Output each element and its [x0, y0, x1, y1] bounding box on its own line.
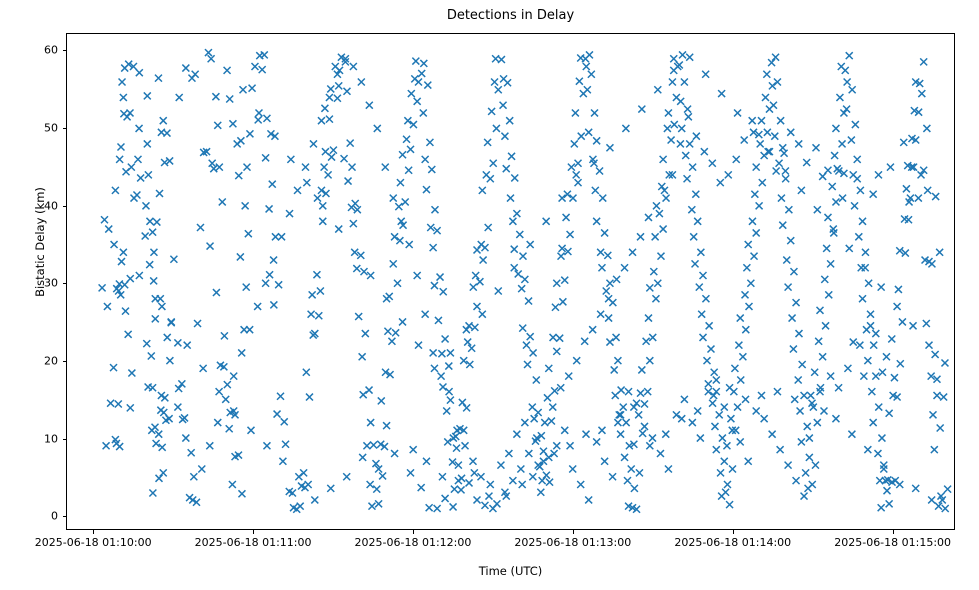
x-tick-mark	[893, 530, 894, 534]
plot-area[interactable]	[66, 33, 955, 530]
x-tick-label: 2025-06-18 01:13:00	[514, 536, 631, 549]
x-tick-mark	[253, 530, 254, 534]
x-tick-mark	[733, 530, 734, 534]
y-axis-label: Bistatic Delay (km)	[33, 122, 47, 362]
x-tick-label: 2025-06-18 01:12:00	[355, 536, 472, 549]
x-tick-label: 2025-06-18 01:15:00	[834, 536, 951, 549]
x-axis-label: Time (UTC)	[66, 564, 955, 578]
scatter-points-layer	[67, 34, 954, 529]
x-tick-mark	[413, 530, 414, 534]
y-tick-label: 10	[20, 432, 58, 445]
y-tick-label: 0	[20, 510, 58, 523]
figure-canvas: Detections in Delay 2025-06-18 01:10:002…	[0, 0, 979, 590]
chart-title: Detections in Delay	[66, 8, 955, 24]
x-tick-mark	[93, 530, 94, 534]
x-tick-label: 2025-06-18 01:14:00	[674, 536, 791, 549]
y-tick-label: 60	[20, 44, 58, 57]
x-tick-label: 2025-06-18 01:11:00	[195, 536, 312, 549]
x-tick-label: 2025-06-18 01:10:00	[35, 536, 152, 549]
x-tick-mark	[573, 530, 574, 534]
